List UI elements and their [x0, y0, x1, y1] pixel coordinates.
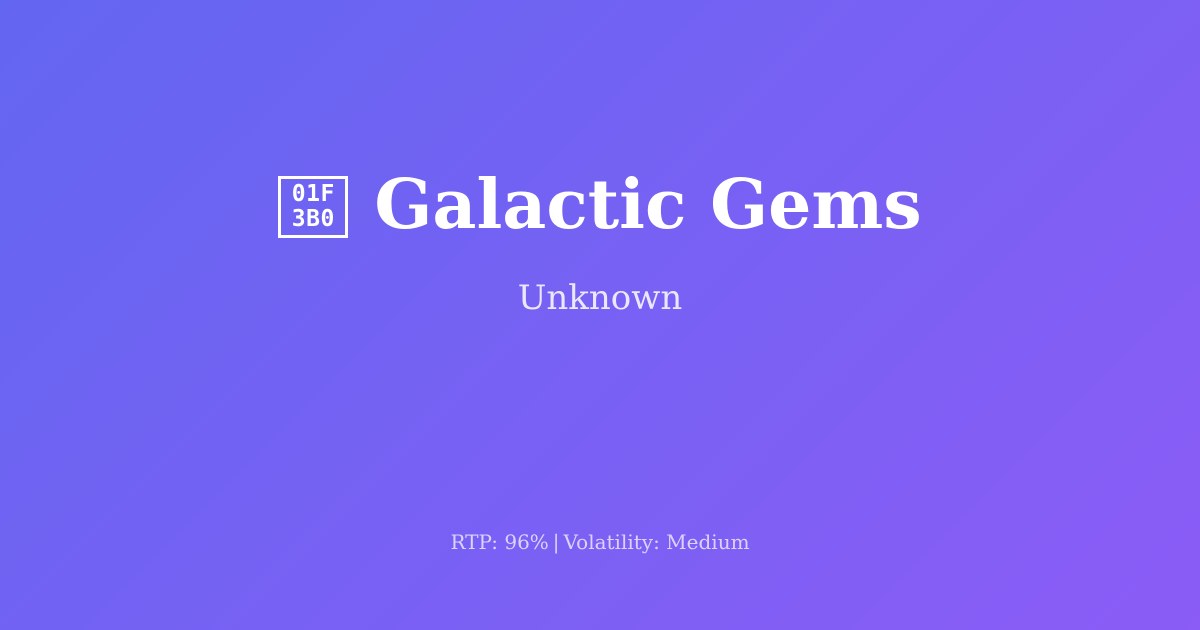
title-block: 01F 3B0 Galactic Gems Unknown	[0, 0, 1200, 545]
rtp-label: RTP: 96%	[450, 530, 548, 554]
game-subtitle: Unknown	[518, 281, 683, 315]
meta-separator: |	[549, 530, 564, 554]
game-title-text: Galactic Gems	[374, 171, 921, 239]
tofu-codepoint-lower: 3B0	[292, 207, 335, 232]
game-preview-card: 01F 3B0 Galactic Gems Unknown RTP: 96%|V…	[0, 0, 1200, 630]
volatility-label: Volatility: Medium	[564, 530, 750, 554]
game-meta-line: RTP: 96%|Volatility: Medium	[0, 530, 1200, 554]
page-title: 01F 3B0 Galactic Gems	[278, 171, 921, 239]
slot-machine-icon: 01F 3B0	[278, 176, 348, 238]
tofu-codepoint-upper: 01F	[292, 182, 335, 207]
